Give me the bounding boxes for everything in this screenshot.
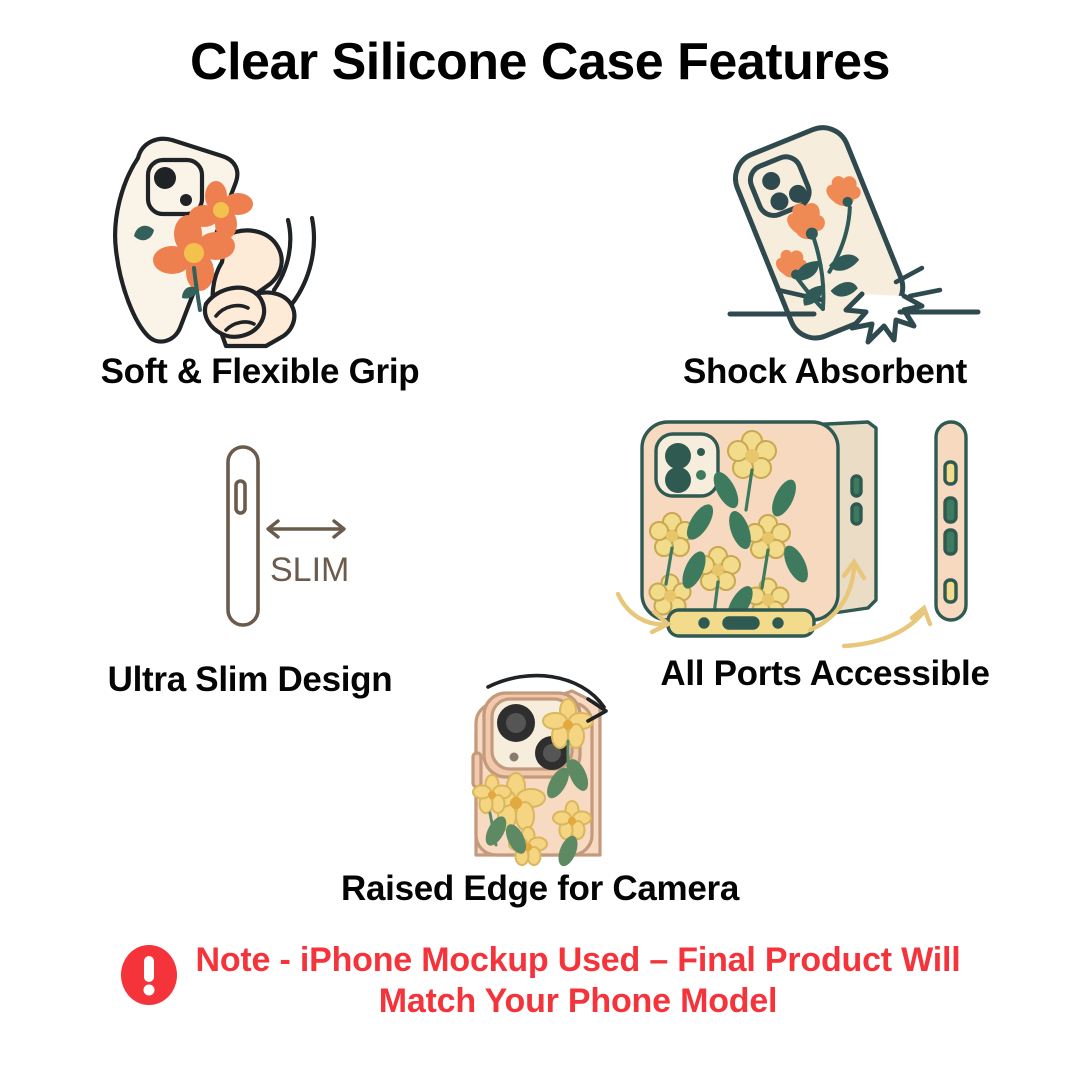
feature-shock-absorbent: Shock Absorbent [600,118,1050,392]
phone-ports-cutouts-illustration [600,418,1050,646]
feature-all-ports-accessible: All Ports Accessible [600,418,1050,694]
alert-exclamation-icon [120,944,178,1006]
note-line-2: Match Your Phone Model [196,981,961,1022]
hand-flexing-phone-illustration [30,118,490,346]
feature-raised-edge-camera: Raised Edge for Camera [300,665,780,909]
disclaimer-note: Note - iPhone Mockup Used – Final Produc… [0,940,1080,1023]
feature-label: Shock Absorbent [600,352,1050,392]
note-text: Note - iPhone Mockup Used – Final Produc… [196,940,961,1023]
phone-drop-impact-illustration [600,118,1050,346]
raised-camera-edge-illustration [300,665,780,855]
feature-ultra-slim-design: SLIM Ultra Slim Design [20,425,480,700]
phone-side-profile-slim-illustration: SLIM [20,425,480,640]
feature-soft-flexible-grip: Soft & Flexible Grip [30,118,490,392]
page-title: Clear Silicone Case Features [0,32,1080,92]
feature-label: Soft & Flexible Grip [30,352,490,392]
note-line-1: Note - iPhone Mockup Used – Final Produc… [196,940,961,981]
slim-caption: SLIM [270,551,349,589]
infographic-page: Clear Silicone Case Features [0,0,1080,1080]
feature-label: Raised Edge for Camera [300,869,780,909]
